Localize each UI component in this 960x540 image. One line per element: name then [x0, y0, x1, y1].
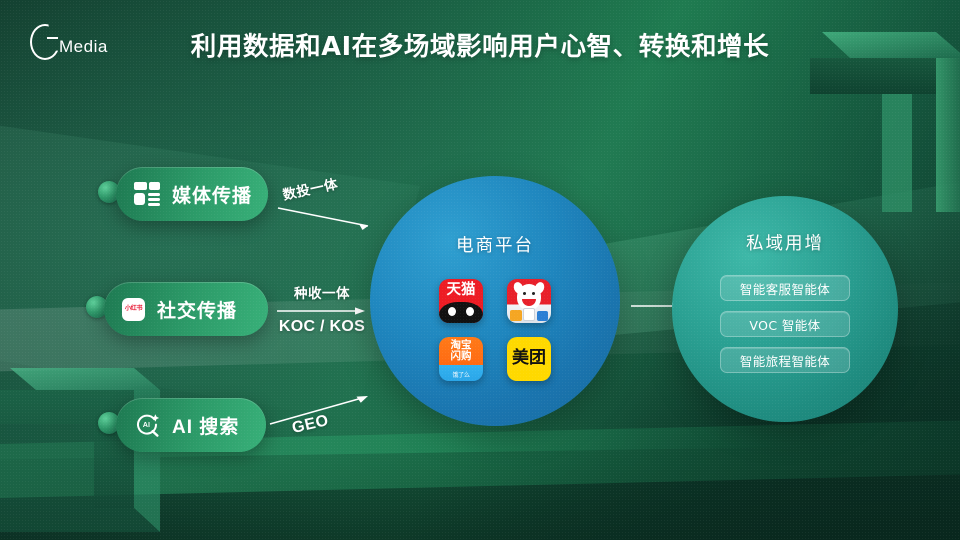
ecommerce-app-grid: 天猫 淘宝 闪购 饿了么 美团 [439, 279, 551, 381]
page-title: 利用数据和AI在多场域影响用户心智、转换和增长 [0, 26, 960, 63]
channel-label-social: 社交传播 [157, 296, 237, 323]
channel-label-ai-search: AI 搜索 [172, 412, 239, 439]
channel-pill-media[interactable]: 媒体传播 [116, 167, 268, 221]
bg-band-dark [0, 444, 960, 540]
app-icon-tmall-text: 天猫 [439, 282, 483, 298]
app-icon-meituan[interactable]: 美团 [507, 337, 551, 381]
flow-arrow-social-sublabel: KOC / KOS [262, 318, 382, 336]
flow-arrow-media: 数投一体 [276, 178, 388, 199]
ecommerce-circle: 电商平台 天猫 淘宝 闪购 饿了么 美 [370, 176, 620, 426]
layout-blocks-icon [134, 181, 160, 207]
private-domain-circle: 私域用增 智能客服智能体 VOC 智能体 智能旅程智能体 [672, 196, 898, 422]
xiaohongshu-icon: 小红书 [122, 298, 145, 321]
slide-canvas: Media 利用数据和AI在多场域影响用户心智、转换和增长 媒体传播 小红书 社… [0, 0, 960, 540]
flow-arrow-media-label: 数投一体 [281, 172, 340, 203]
channel-pill-ai-search[interactable]: AI AI 搜索 [116, 398, 266, 452]
ecommerce-title: 电商平台 [456, 232, 534, 257]
arrow-right-icon [275, 305, 369, 317]
xiaohongshu-icon-text: 小红书 [125, 306, 142, 312]
agent-list: 智能客服智能体 VOC 智能体 智能旅程智能体 [720, 275, 850, 373]
app-icon-tmall[interactable]: 天猫 [439, 279, 483, 323]
channel-label-media: 媒体传播 [172, 181, 252, 208]
flow-arrow-social: 种收一体 KOC / KOS [262, 282, 382, 336]
arrow-right-icon [276, 204, 382, 234]
agent-item-journey[interactable]: 智能旅程智能体 [720, 347, 850, 373]
app-icon-taobao-shangou-line3: 饿了么 [439, 373, 483, 380]
private-domain-title: 私域用增 [746, 230, 824, 255]
app-icon-meituan-text: 美团 [507, 348, 551, 368]
flow-arrow-social-label: 种收一体 [262, 282, 382, 302]
ai-sparkle-icon: AI [134, 412, 160, 438]
svg-text:AI: AI [143, 420, 150, 429]
app-icon-taobao-shangou[interactable]: 淘宝 闪购 饿了么 [439, 337, 483, 381]
app-icon-jd[interactable] [507, 279, 551, 323]
channel-pill-social[interactable]: 小红书 社交传播 [104, 282, 268, 336]
tmall-cat-face-icon [439, 302, 483, 323]
app-icon-taobao-shangou-line2: 闪购 [439, 351, 483, 362]
bg-wedge-left [0, 120, 420, 420]
agent-item-customer-service[interactable]: 智能客服智能体 [720, 275, 850, 301]
agent-item-voc[interactable]: VOC 智能体 [720, 311, 850, 337]
